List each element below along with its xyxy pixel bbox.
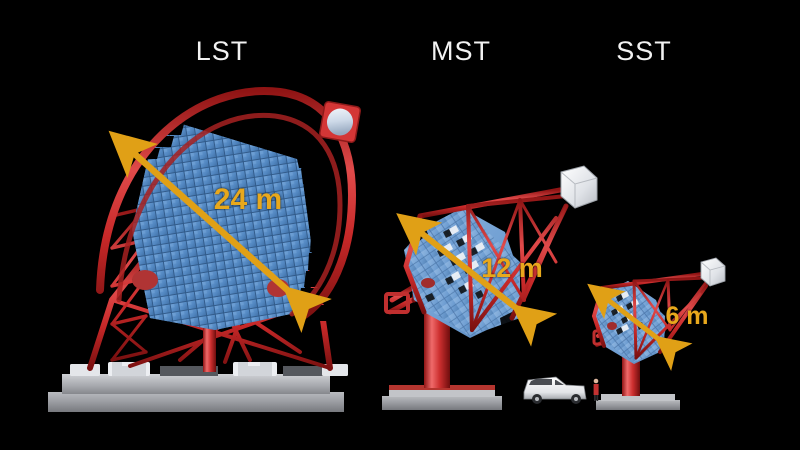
scene-graphic (0, 0, 800, 450)
standing-person (594, 379, 599, 401)
diameter-label-lst: 24 m (214, 183, 282, 217)
diameter-label-mst: 12 m (481, 253, 543, 284)
sst-camera (701, 258, 725, 286)
mst-ground-platform (382, 385, 502, 410)
telescope-label-mst: MST (431, 36, 491, 67)
telescope-comparison-illustration: LST MST SST 24 m 12 m 6 m (0, 0, 800, 450)
scale-reference-group (524, 377, 599, 404)
telescope-lst (48, 91, 361, 412)
diameter-label-sst: 6 m (665, 302, 708, 331)
lst-dish-hub-left (132, 270, 158, 290)
mst-camera (561, 166, 597, 208)
sst-ground-platform (596, 394, 680, 410)
telescope-label-lst: LST (196, 36, 249, 67)
lst-ground-platform (48, 374, 344, 412)
lst-camera (319, 101, 361, 143)
telescope-sst (588, 258, 725, 410)
white-suv (524, 377, 586, 404)
telescope-label-sst: SST (616, 36, 672, 67)
telescope-mst (382, 166, 597, 410)
